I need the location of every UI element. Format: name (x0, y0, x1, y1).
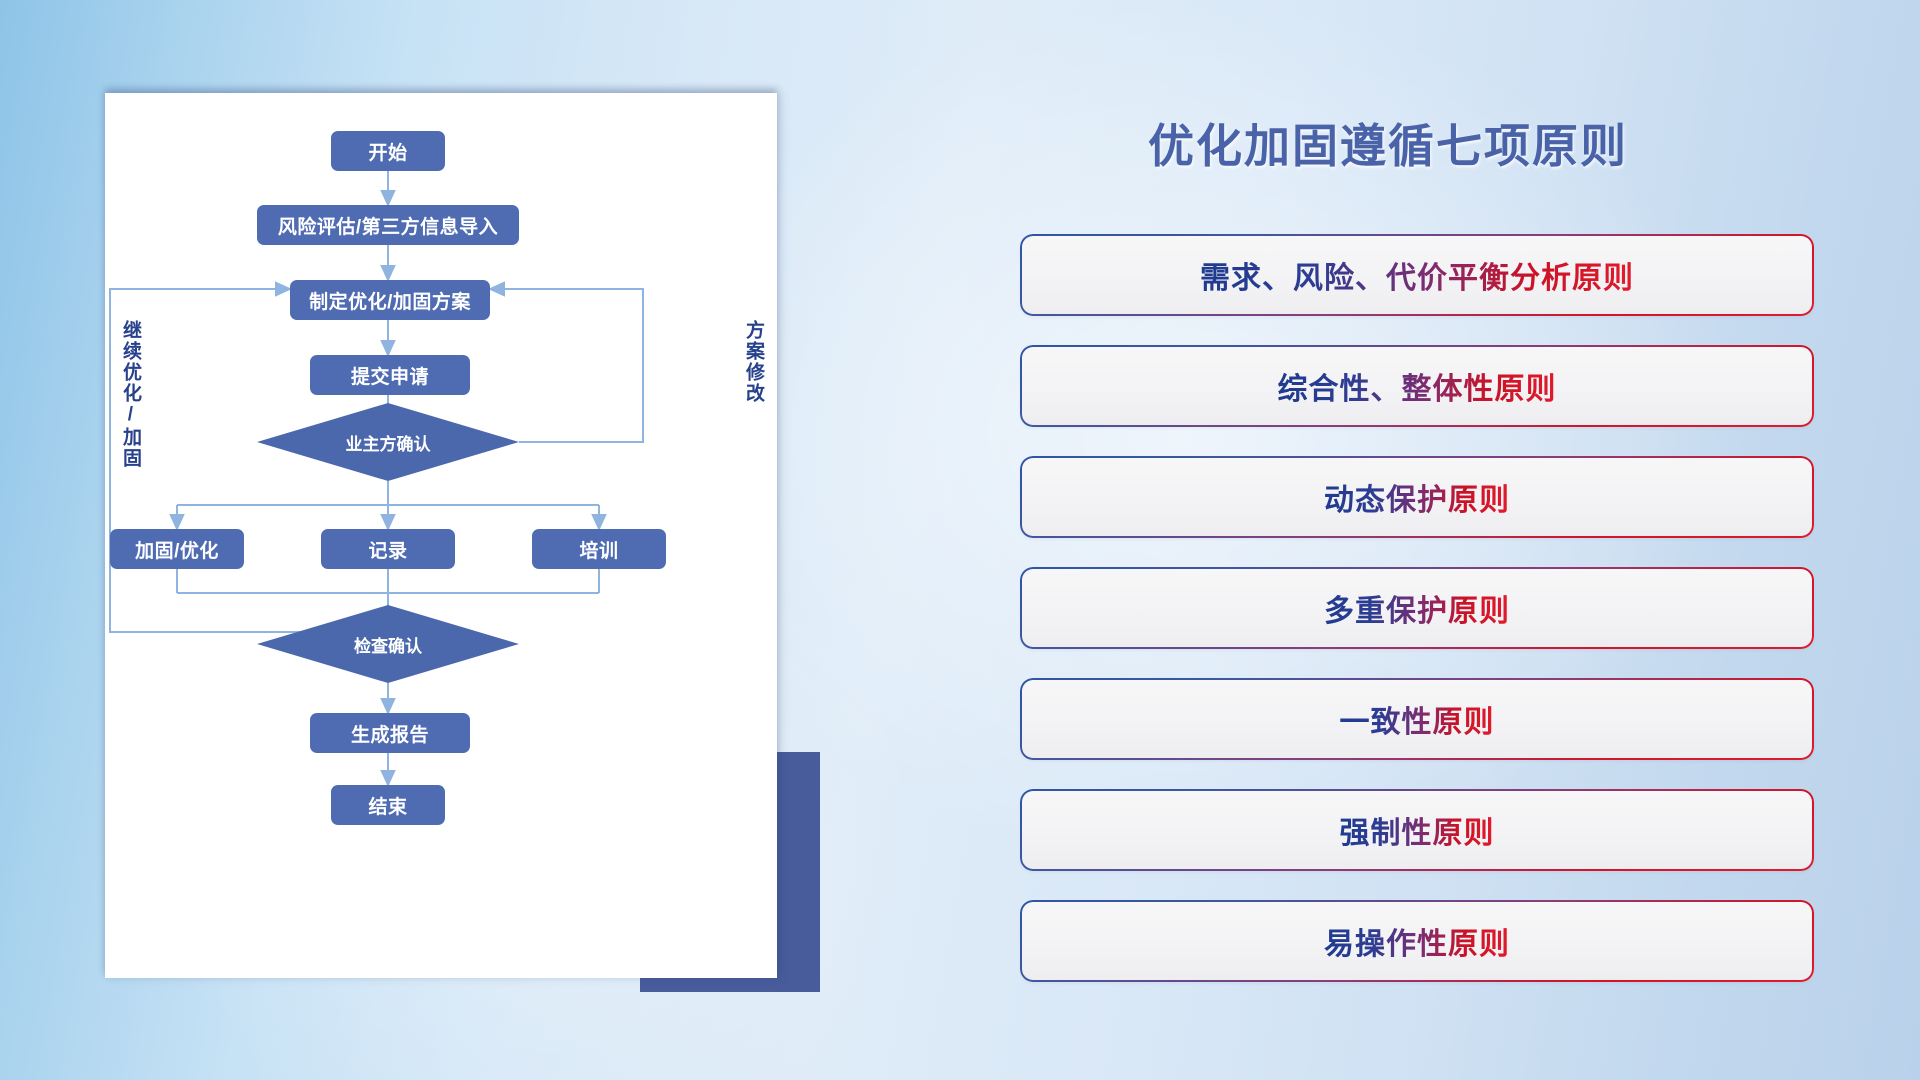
principle-label: 多重保护原则 (1324, 586, 1510, 630)
principle-label: 综合性、整体性原则 (1278, 364, 1557, 408)
flow-node-label: 加固/优化 (135, 536, 219, 563)
flow-node-label: 记录 (368, 536, 407, 563)
flow-node-label: 生成报告 (351, 720, 429, 747)
flow-node-label: 制定优化/加固方案 (309, 287, 471, 314)
edge-label-continue-optimize: 继续优化/加固 (120, 320, 140, 469)
principle-label: 强制性原则 (1340, 808, 1495, 852)
flow-node-label: 风险评估/第三方信息导入 (278, 212, 498, 239)
principle-label: 动态保护原则 (1324, 475, 1510, 519)
principle-card[interactable]: 一致性原则 (1022, 680, 1812, 758)
edge-label-plan-revision: 方案修改 (743, 320, 763, 404)
principles-list: 需求、风险、代价平衡分析原则 综合性、整体性原则 动态保护原则 多重保护原则 一… (1022, 236, 1812, 1013)
principle-card[interactable]: 强制性原则 (1022, 791, 1812, 869)
flow-node-record[interactable]: 记录 (321, 529, 455, 569)
principle-card[interactable]: 易操作性原则 (1022, 902, 1812, 980)
flow-node-end[interactable]: 结束 (331, 785, 445, 825)
slide-canvas: 开始 风险评估/第三方信息导入 制定优化/加固方案 提交申请 业主方确认 加固/… (0, 0, 1920, 1080)
flow-node-label: 业主方确认 (346, 430, 431, 455)
flowchart-card: 开始 风险评估/第三方信息导入 制定优化/加固方案 提交申请 业主方确认 加固/… (105, 93, 777, 978)
flow-node-label: 结束 (368, 792, 407, 819)
principle-card[interactable]: 需求、风险、代价平衡分析原则 (1022, 236, 1812, 314)
flow-node-start[interactable]: 开始 (331, 131, 445, 171)
flow-node-training[interactable]: 培训 (532, 529, 666, 569)
principle-label: 一致性原则 (1340, 697, 1495, 741)
principle-card[interactable]: 多重保护原则 (1022, 569, 1812, 647)
flow-node-make-plan[interactable]: 制定优化/加固方案 (290, 280, 490, 320)
flow-node-harden-optimize[interactable]: 加固/优化 (110, 529, 244, 569)
principle-label: 需求、风险、代价平衡分析原则 (1200, 253, 1634, 297)
flow-node-label: 提交申请 (351, 362, 429, 389)
flow-node-label: 开始 (368, 138, 407, 165)
flow-node-label: 培训 (579, 536, 618, 563)
flow-node-risk-assessment[interactable]: 风险评估/第三方信息导入 (257, 205, 519, 245)
flow-node-label: 检查确认 (354, 632, 422, 657)
principle-card[interactable]: 动态保护原则 (1022, 458, 1812, 536)
flow-node-submit-application[interactable]: 提交申请 (310, 355, 470, 395)
principle-label: 易操作性原则 (1324, 919, 1510, 963)
flow-node-generate-report[interactable]: 生成报告 (310, 713, 470, 753)
page-title: 优化加固遵循七项原则 (1148, 110, 1628, 176)
principle-card[interactable]: 综合性、整体性原则 (1022, 347, 1812, 425)
